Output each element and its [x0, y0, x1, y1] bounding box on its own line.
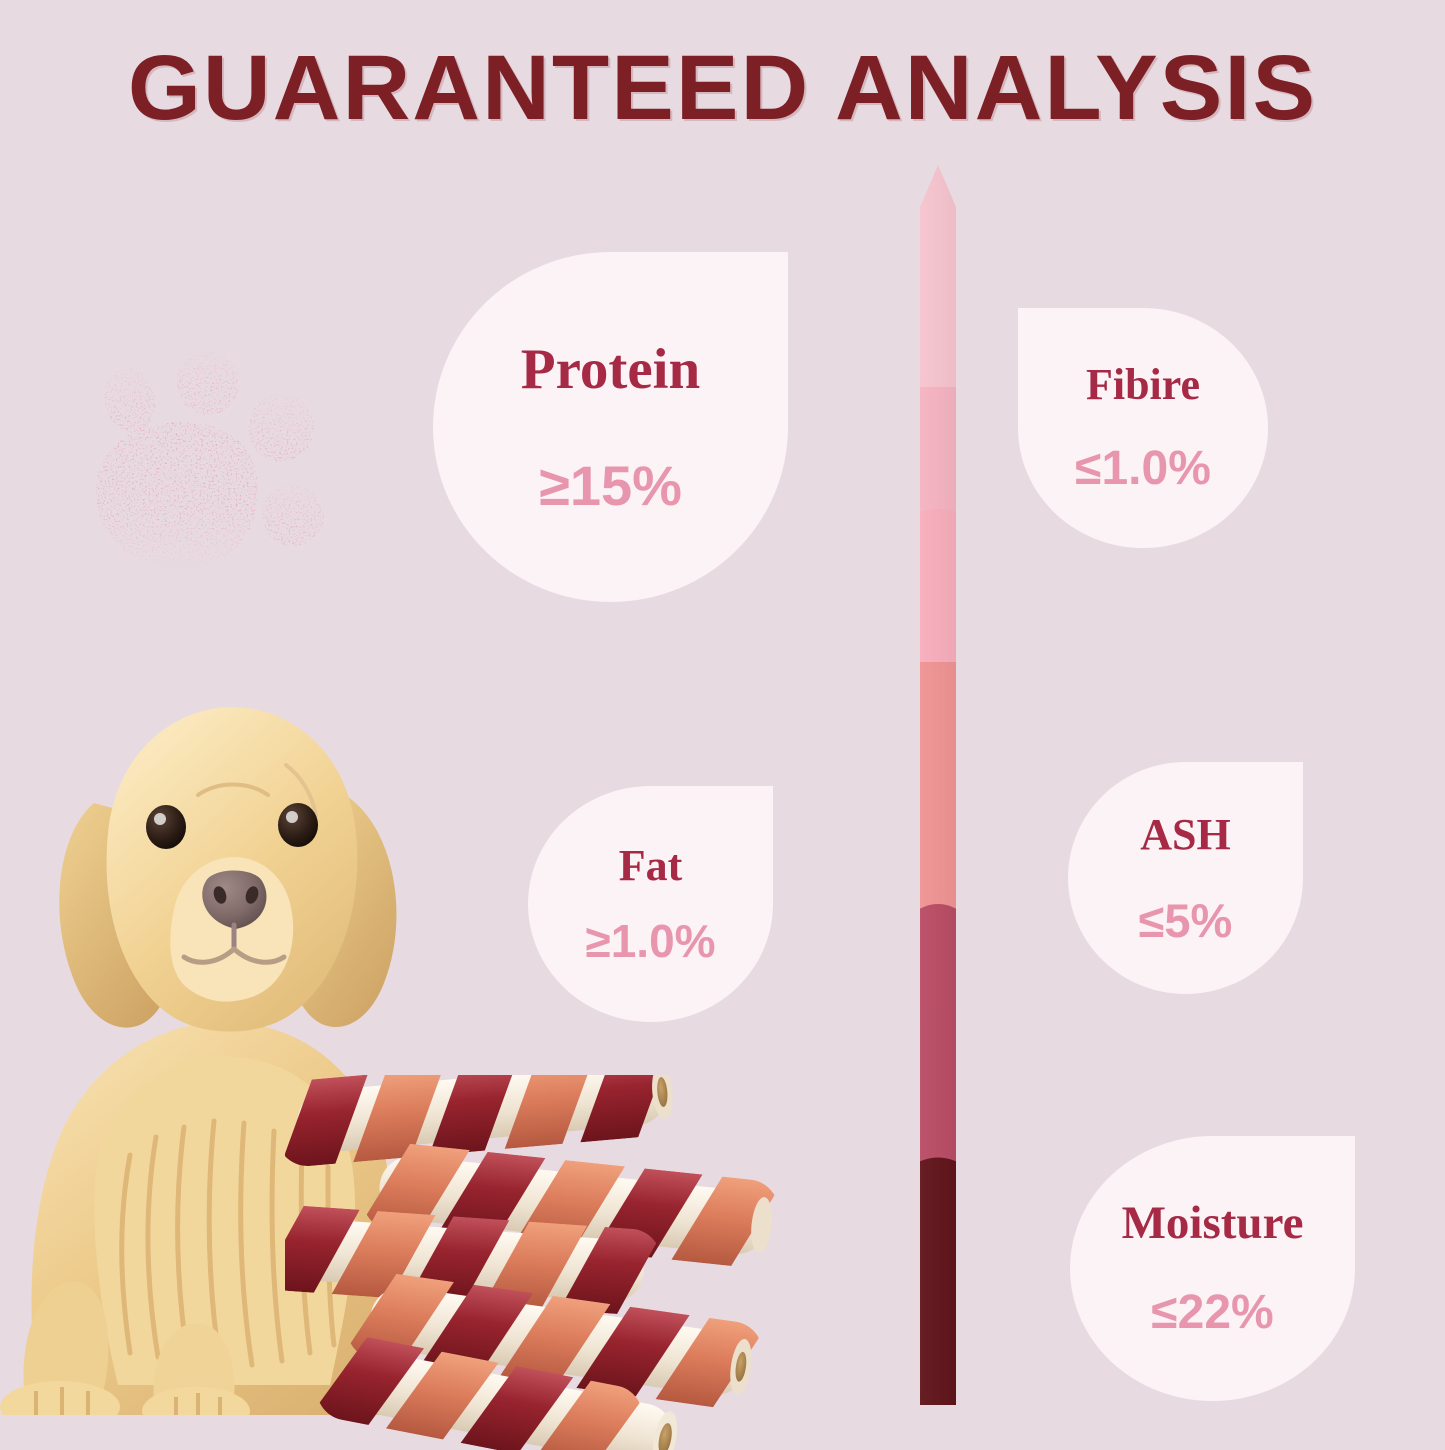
nutrient-value-fibire: ≤1.0%: [1075, 445, 1211, 493]
paw-print-icon: [78, 330, 348, 585]
nutrient-label-ash: ASH: [1140, 813, 1230, 857]
nutrient-value-moisture: ≤22%: [1151, 1289, 1273, 1337]
wrapped-dog-treat-sticks: [285, 1075, 815, 1450]
nutrient-badge-fat[interactable]: Fat ≥1.0%: [528, 786, 773, 1022]
nutrient-value-protein: ≥15%: [539, 458, 682, 514]
page-title: GUARANTEED ANALYSIS: [0, 36, 1445, 141]
nutrient-value-ash: ≤5%: [1139, 897, 1233, 944]
nutrient-label-moisture: Moisture: [1122, 1200, 1304, 1247]
nutrient-badge-moisture[interactable]: Moisture ≤22%: [1070, 1136, 1355, 1401]
nutrient-value-fat: ≥1.0%: [585, 918, 715, 964]
nutrient-badge-protein[interactable]: Protein ≥15%: [433, 252, 788, 602]
nutrient-label-fibire: Fibire: [1086, 363, 1200, 407]
nutrient-label-protein: Protein: [521, 341, 700, 398]
vertical-arrow-meter: [908, 165, 968, 1410]
nutrient-badge-ash[interactable]: ASH ≤5%: [1068, 762, 1303, 994]
poster-canvas: GUARANTEED ANALYSIS: [0, 0, 1445, 1445]
nutrient-badge-fibire[interactable]: Fibire ≤1.0%: [1018, 308, 1268, 548]
nutrient-label-fat: Fat: [619, 844, 683, 888]
